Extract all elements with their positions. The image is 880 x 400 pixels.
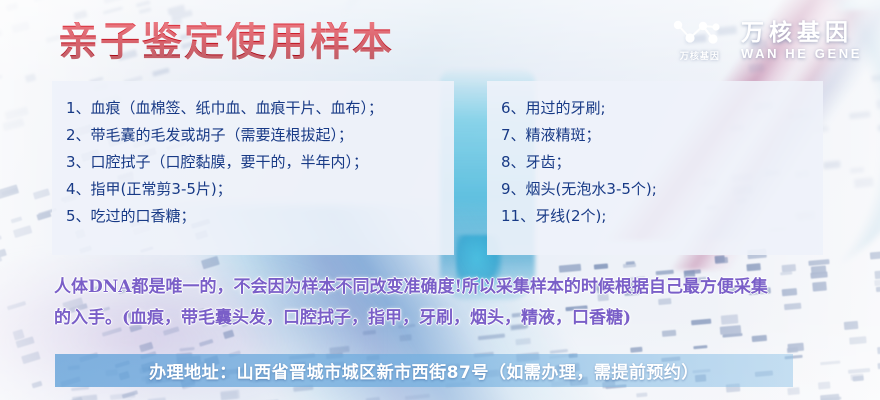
list-item: 7、精液精斑； (501, 122, 823, 149)
list-item: 3、口腔拭子（口腔黏膜，要干的，半年内）； (66, 149, 454, 176)
sample-list-panel-left: 1、血痕（血棉签、纸巾血、血痕干片、血布）； 2、带毛囊的毛发或胡子（需要连根拔… (52, 81, 454, 255)
note-paragraph-line-1: 人体DNA都是唯一的，不会因为样本不同改变准确度!所以采集样本的时候根据自己最方… (54, 272, 844, 303)
list-item: 11、牙线(2个); (501, 203, 823, 230)
sample-list-panel-right: 6、用过的牙刷; 7、精液精斑； 8、牙齿； 9、烟头(无泡水3-5个); 11… (487, 81, 823, 255)
note-paragraph-line-2: 的入手。(血痕，带毛囊头发，口腔拭子，指甲，牙刷，烟头，精液，口香糖) (54, 303, 844, 334)
note-paragraph: 人体DNA都是唯一的，不会因为样本不同改变准确度!所以采集样本的时候根据自己最方… (54, 272, 844, 334)
list-item: 2、带毛囊的毛发或胡子（需要连根拔起）； (66, 122, 454, 149)
molecule-node-icon: 万核基因 (669, 18, 731, 62)
brand-name-en: WAN HE GENE (741, 47, 862, 61)
address-text: 办理地址：山西省晋城市城区新市西街87号（如需办理，需提前预约） (149, 358, 699, 383)
brand-name-cn: 万核基因 (741, 20, 862, 44)
sample-list-left: 1、血痕（血棉签、纸巾血、血痕干片、血布）； 2、带毛囊的毛发或胡子（需要连根拔… (52, 81, 454, 230)
list-item: 5、吃过的口香糖； (66, 203, 454, 230)
sample-list-right: 6、用过的牙刷; 7、精液精斑； 8、牙齿； 9、烟头(无泡水3-5个); 11… (487, 81, 823, 230)
poster-root: 亲子鉴定使用样本 万核基因 万核基 (0, 0, 880, 400)
list-item: 4、指甲(正常剪3-5片)； (66, 176, 454, 203)
brand-wordmark: 万核基因 WAN HE GENE (741, 20, 862, 61)
list-item: 1、血痕（血棉签、纸巾血、血痕干片、血布）； (66, 95, 454, 122)
list-item: 8、牙齿； (501, 149, 823, 176)
page-title: 亲子鉴定使用样本 (58, 22, 394, 62)
list-item: 9、烟头(无泡水3-5个); (501, 176, 823, 203)
brand-logo: 万核基因 万核基因 WAN HE GENE (669, 18, 862, 62)
address-bar: 办理地址：山西省晋城市城区新市西街87号（如需办理，需提前预约） (55, 354, 793, 387)
list-item: 6、用过的牙刷; (501, 95, 823, 122)
logo-mark-label: 万核基因 (680, 49, 720, 62)
